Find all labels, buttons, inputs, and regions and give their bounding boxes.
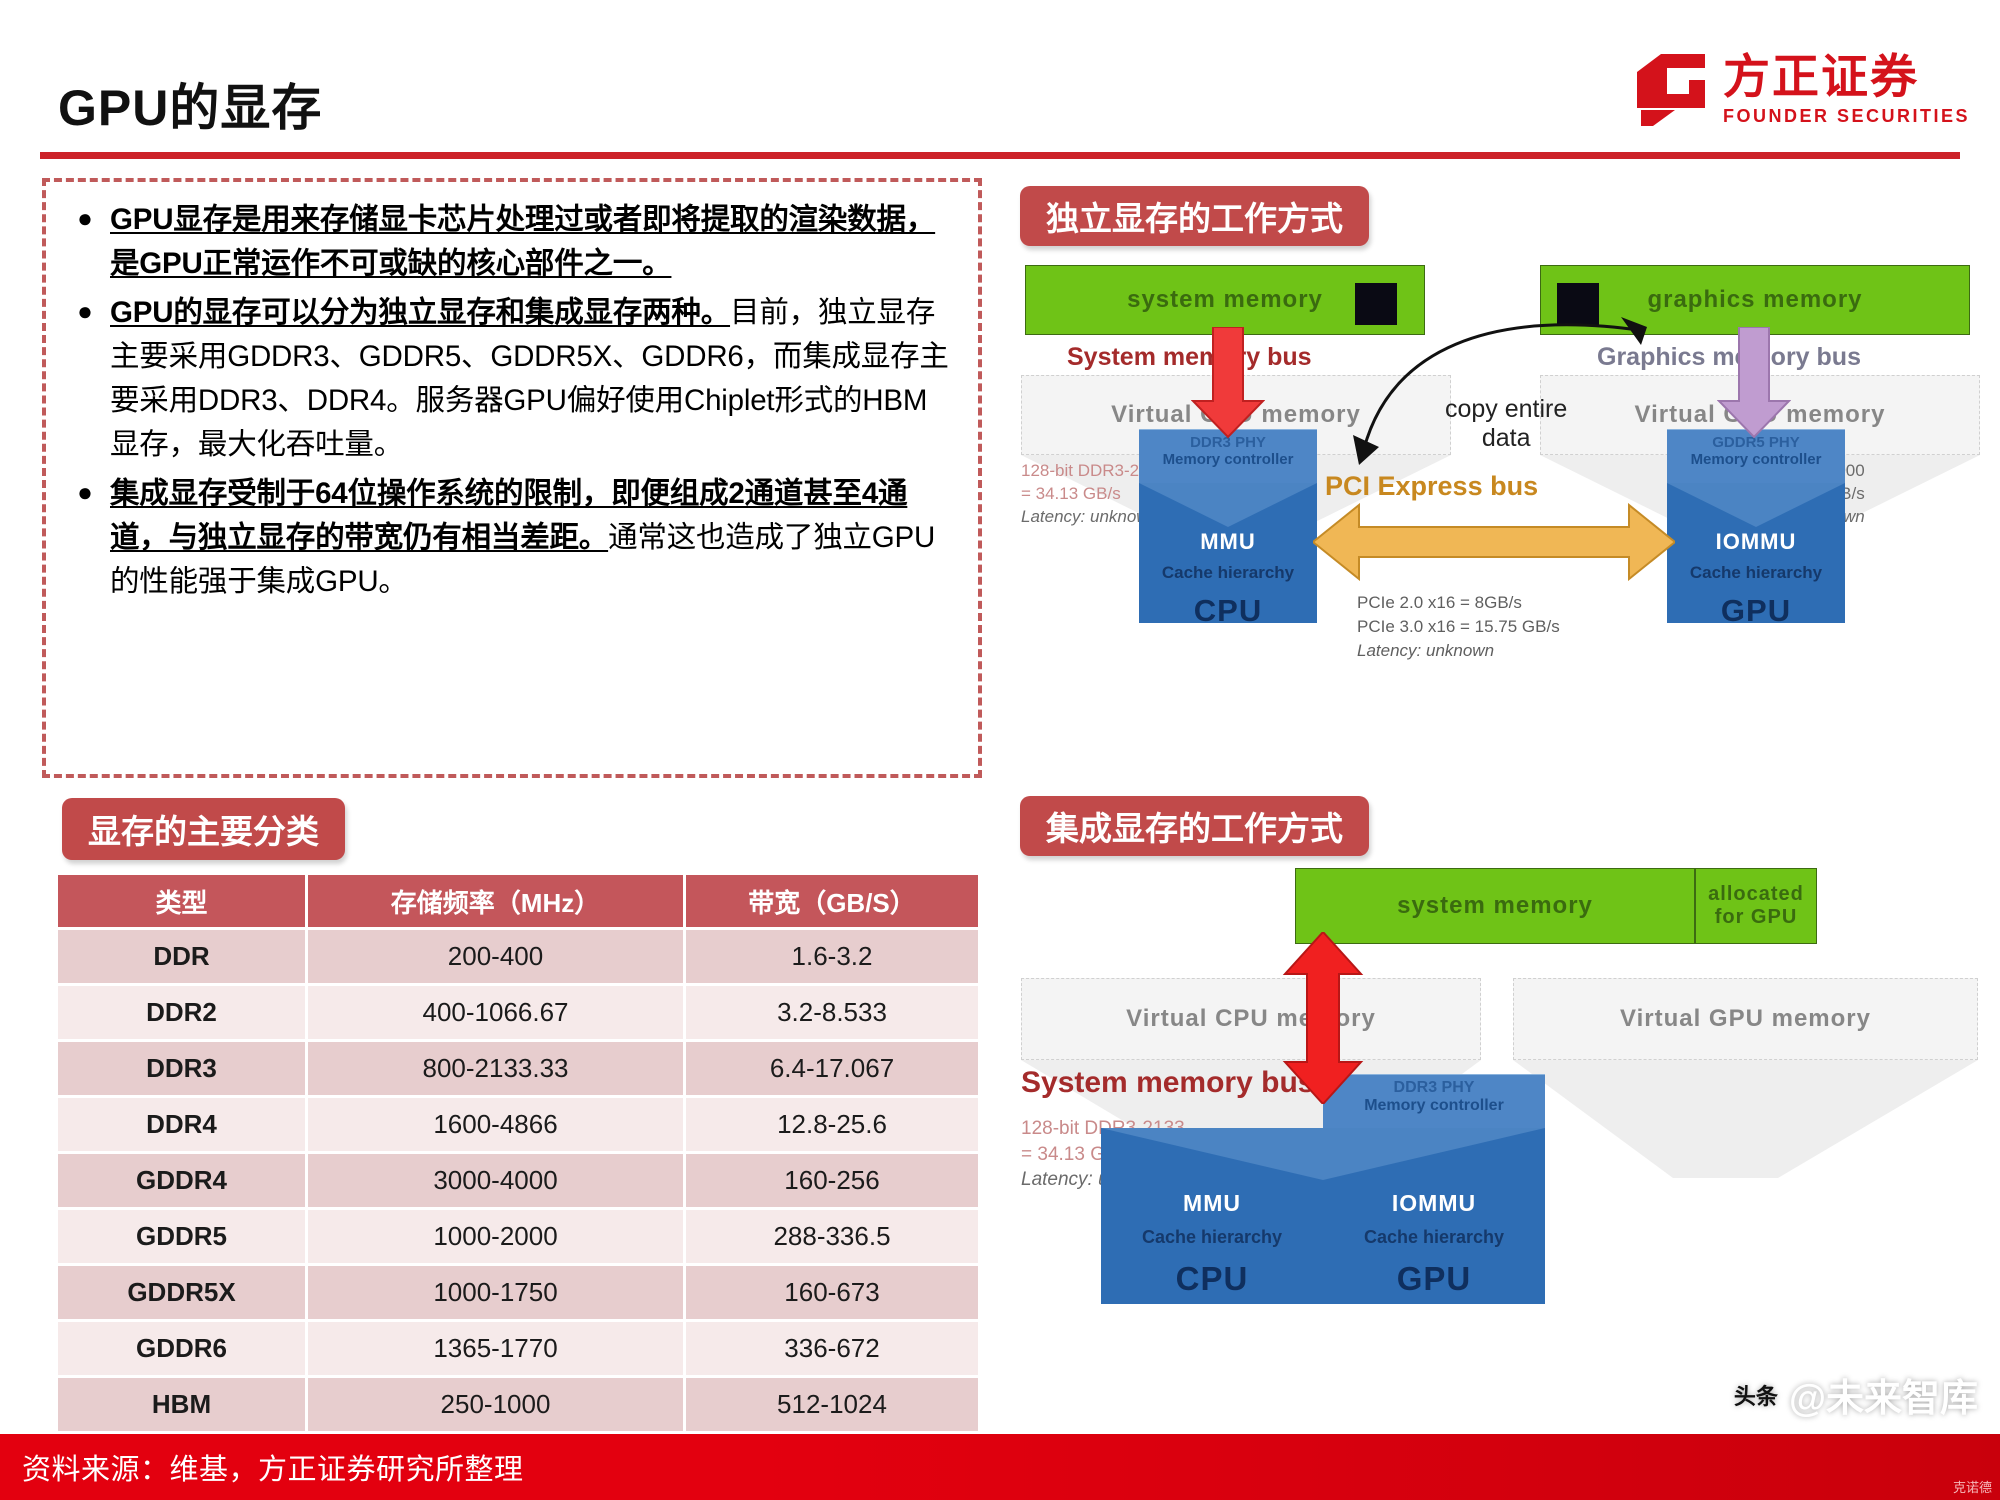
slide-footer: 资料来源：维基，方正证券研究所整理 克诺德 [0,1434,2000,1500]
pcie-note-line-1: PCIe 2.0 x16 = 8GB/s [1357,591,1560,615]
cell-type: GDDR5X [58,1266,305,1319]
cell-bandwidth: 288-336.5 [686,1210,978,1263]
cpu-mmu-label: MMU [1200,529,1256,555]
table-row: DDR2 400-1066.67 3.2-8.533 [58,986,978,1039]
cell-frequency: 1000-1750 [308,1266,683,1319]
cell-type: DDR2 [58,986,305,1039]
cell-type: GDDR4 [58,1154,305,1207]
list-item: ● GPU的显存可以分为独立显存和集成显存两种。目前，独立显存主要采用GDDR3… [60,291,956,468]
table-row: GDDR5 1000-2000 288-336.5 [58,1210,978,1263]
gpu-memory-controller-label: Memory controller [1667,451,1845,468]
bullet-text: GPU显存是用来存储显卡芯片处理过或者即将提取的渲染数据，是GPU正常运作不可或… [110,198,956,287]
memory-types-table: 类型 存储频率（MHz） 带宽（GB/S） DDR 200-400 1.6-3.… [55,872,981,1434]
integrated-virtual-gpu-memory-pane: Virtual GPU memory [1513,978,1978,1060]
gpu-package: IOMMU Cache hierarchy GPU [1667,483,1845,623]
allocated-label-line-1: allocated [1708,883,1804,906]
apu-package: MMU Cache hierarchy CPU IOMMU Cache hier… [1101,1128,1545,1304]
logo-wordmark: 方正证券 FOUNDER SECURITIES [1723,53,1970,125]
bullet-text: 集成显存受制于64位操作系统的限制，即便组成2通道甚至4通道，与独立显存的带宽仍… [110,472,956,605]
cpu-memory-controller-label: Memory controller [1139,451,1317,468]
bullet-emphasis: GPU显存是用来存储显卡芯片处理过或者即将提取的渲染数据，是GPU正常运作不可或… [110,203,935,280]
bullet-marker: ● [60,472,110,512]
integrated-memory-bus-arrow [1281,932,1365,1104]
cpu-cache-label: Cache hierarchy [1162,563,1294,583]
discrete-vram-diagram: system memory graphics memory System mem… [1005,255,1995,785]
cell-type: HBM [58,1378,305,1431]
bullet-list: ● GPU显存是用来存储显卡芯片处理过或者即将提取的渲染数据，是GPU正常运作不… [46,182,978,616]
cell-type: GDDR5 [58,1210,305,1263]
pcie-note-line-2: PCIe 3.0 x16 = 15.75 GB/s [1357,615,1560,639]
section-heading-integrated-vram: 集成显存的工作方式 [1020,796,1369,856]
watermark: 头条 @未来智库 [1733,1367,1978,1422]
gpu-cache-label: Cache hierarchy [1690,563,1822,583]
key-points-box: ● GPU显存是用来存储显卡芯片处理过或者即将提取的渲染数据，是GPU正常运作不… [42,178,982,778]
copy-data-arrow [1345,275,1675,465]
column-header-frequency: 存储频率（MHz） [308,875,683,927]
cell-frequency: 800-2133.33 [308,1042,683,1095]
integrated-virtual-cpu-memory-pane: Virtual CPU memory [1021,978,1481,1060]
bullet-marker: ● [60,198,110,238]
cell-frequency: 1000-2000 [308,1210,683,1263]
integrated-gpu-name-label: GPU [1397,1260,1472,1298]
cpu-package: MMU Cache hierarchy CPU [1139,483,1317,623]
cell-type: DDR [58,930,305,983]
pcie-note-line-3: Latency: unknown [1357,641,1494,660]
system-memory-bus-label: System memory bus [1067,343,1312,372]
table-row: GDDR4 3000-4000 160-256 [58,1154,978,1207]
page-title: GPU的显存 [58,68,322,140]
gpu-name-label: GPU [1721,593,1791,629]
allocated-for-gpu-block: allocated for GPU [1695,868,1817,944]
column-header-type: 类型 [58,875,305,927]
integrated-gpu-funnel-shape [1513,1060,1978,1178]
cell-bandwidth: 160-673 [686,1266,978,1319]
table-row: GDDR6 1365-1770 336-672 [58,1322,978,1375]
cell-frequency: 250-1000 [308,1378,683,1431]
source-note: 资料来源：维基，方正证券研究所整理 [22,1446,524,1488]
pcie-bus-label: PCI Express bus [1325,471,1538,502]
cpu-name-label: CPU [1194,593,1262,629]
integrated-gpu-cache-label: Cache hierarchy [1364,1227,1504,1248]
cell-type: DDR3 [58,1042,305,1095]
brand-logo: 方正证券 FOUNDER SECURITIES [1631,50,1970,128]
cell-bandwidth: 336-672 [686,1322,978,1375]
system-memory-bus-arrow [1191,327,1265,439]
bullet-marker: ● [60,291,110,331]
integrated-cpu-mmu-label: MMU [1183,1190,1241,1217]
bullet-emphasis: GPU的显存可以分为独立显存和集成显存两种。 [110,296,730,329]
cell-type: GDDR6 [58,1322,305,1375]
cell-bandwidth: 1.6-3.2 [686,930,978,983]
cpu-note-line-3: Latency: unknown [1021,507,1158,526]
cell-bandwidth: 3.2-8.533 [686,986,978,1039]
watermark-text: @未来智库 [1789,1367,1978,1422]
table-row: HBM 250-1000 512-1024 [58,1378,978,1431]
pcie-bandwidth-note: PCIe 2.0 x16 = 8GB/s PCIe 3.0 x16 = 15.7… [1357,591,1560,662]
cell-bandwidth: 160-256 [686,1154,978,1207]
watermark-badge: 头条 [1733,1372,1779,1418]
table-header-row: 类型 存储频率（MHz） 带宽（GB/S） [58,875,978,927]
cpu-package-notch [1139,483,1317,531]
apu-package-notch [1101,1128,1545,1184]
table-row: DDR3 800-2133.33 6.4-17.067 [58,1042,978,1095]
integrated-cpu-name-label: CPU [1176,1260,1249,1298]
bullet-text: GPU的显存可以分为独立显存和集成显存两种。目前，独立显存主要采用GDDR3、G… [110,291,956,468]
founder-logo-icon [1631,50,1709,128]
gpu-iommu-label: IOMMU [1716,529,1797,555]
gpu-package-notch [1667,483,1845,531]
slide-root: GPU的显存 方正证券 FOUNDER SECURITIES ● GPU显存是用… [0,0,2000,1500]
integrated-system-memory-bus-label: System memory bus [1021,1066,1314,1100]
integrated-cpu-cache-label: Cache hierarchy [1142,1227,1282,1248]
allocated-label-line-2: for GPU [1715,906,1798,929]
graphics-memory-bus-arrow [1717,327,1791,439]
cell-type: DDR4 [58,1098,305,1151]
slide-header: GPU的显存 方正证券 FOUNDER SECURITIES [0,0,2000,160]
logo-english-name: FOUNDER SECURITIES [1723,107,1970,125]
corner-tag: 克诺德 [1953,1477,1992,1496]
integrated-vram-diagram: system memory allocated for GPU Virtual … [1005,868,1995,1428]
section-heading-memory-types: 显存的主要分类 [62,798,345,860]
table-row: DDR 200-400 1.6-3.2 [58,930,978,983]
list-item: ● GPU显存是用来存储显卡芯片处理过或者即将提取的渲染数据，是GPU正常运作不… [60,198,956,287]
section-heading-discrete-vram: 独立显存的工作方式 [1020,186,1369,246]
column-header-bandwidth: 带宽（GB/S） [686,875,978,927]
integrated-gpu-iommu-label: IOMMU [1392,1190,1476,1217]
cell-bandwidth: 12.8-25.6 [686,1098,978,1151]
logo-chinese-name: 方正证券 [1723,53,1970,100]
pcie-bus-arrow [1313,503,1675,581]
table-row: DDR4 1600-4866 12.8-25.6 [58,1098,978,1151]
list-item: ● 集成显存受制于64位操作系统的限制，即便组成2通道甚至4通道，与独立显存的带… [60,472,956,605]
cell-bandwidth: 6.4-17.067 [686,1042,978,1095]
cell-frequency: 400-1066.67 [308,986,683,1039]
cell-frequency: 3000-4000 [308,1154,683,1207]
cell-frequency: 1600-4866 [308,1098,683,1151]
cell-bandwidth: 512-1024 [686,1378,978,1431]
cell-frequency: 200-400 [308,930,683,983]
table-row: GDDR5X 1000-1750 160-673 [58,1266,978,1319]
cell-frequency: 1365-1770 [308,1322,683,1375]
header-divider [40,152,1960,159]
